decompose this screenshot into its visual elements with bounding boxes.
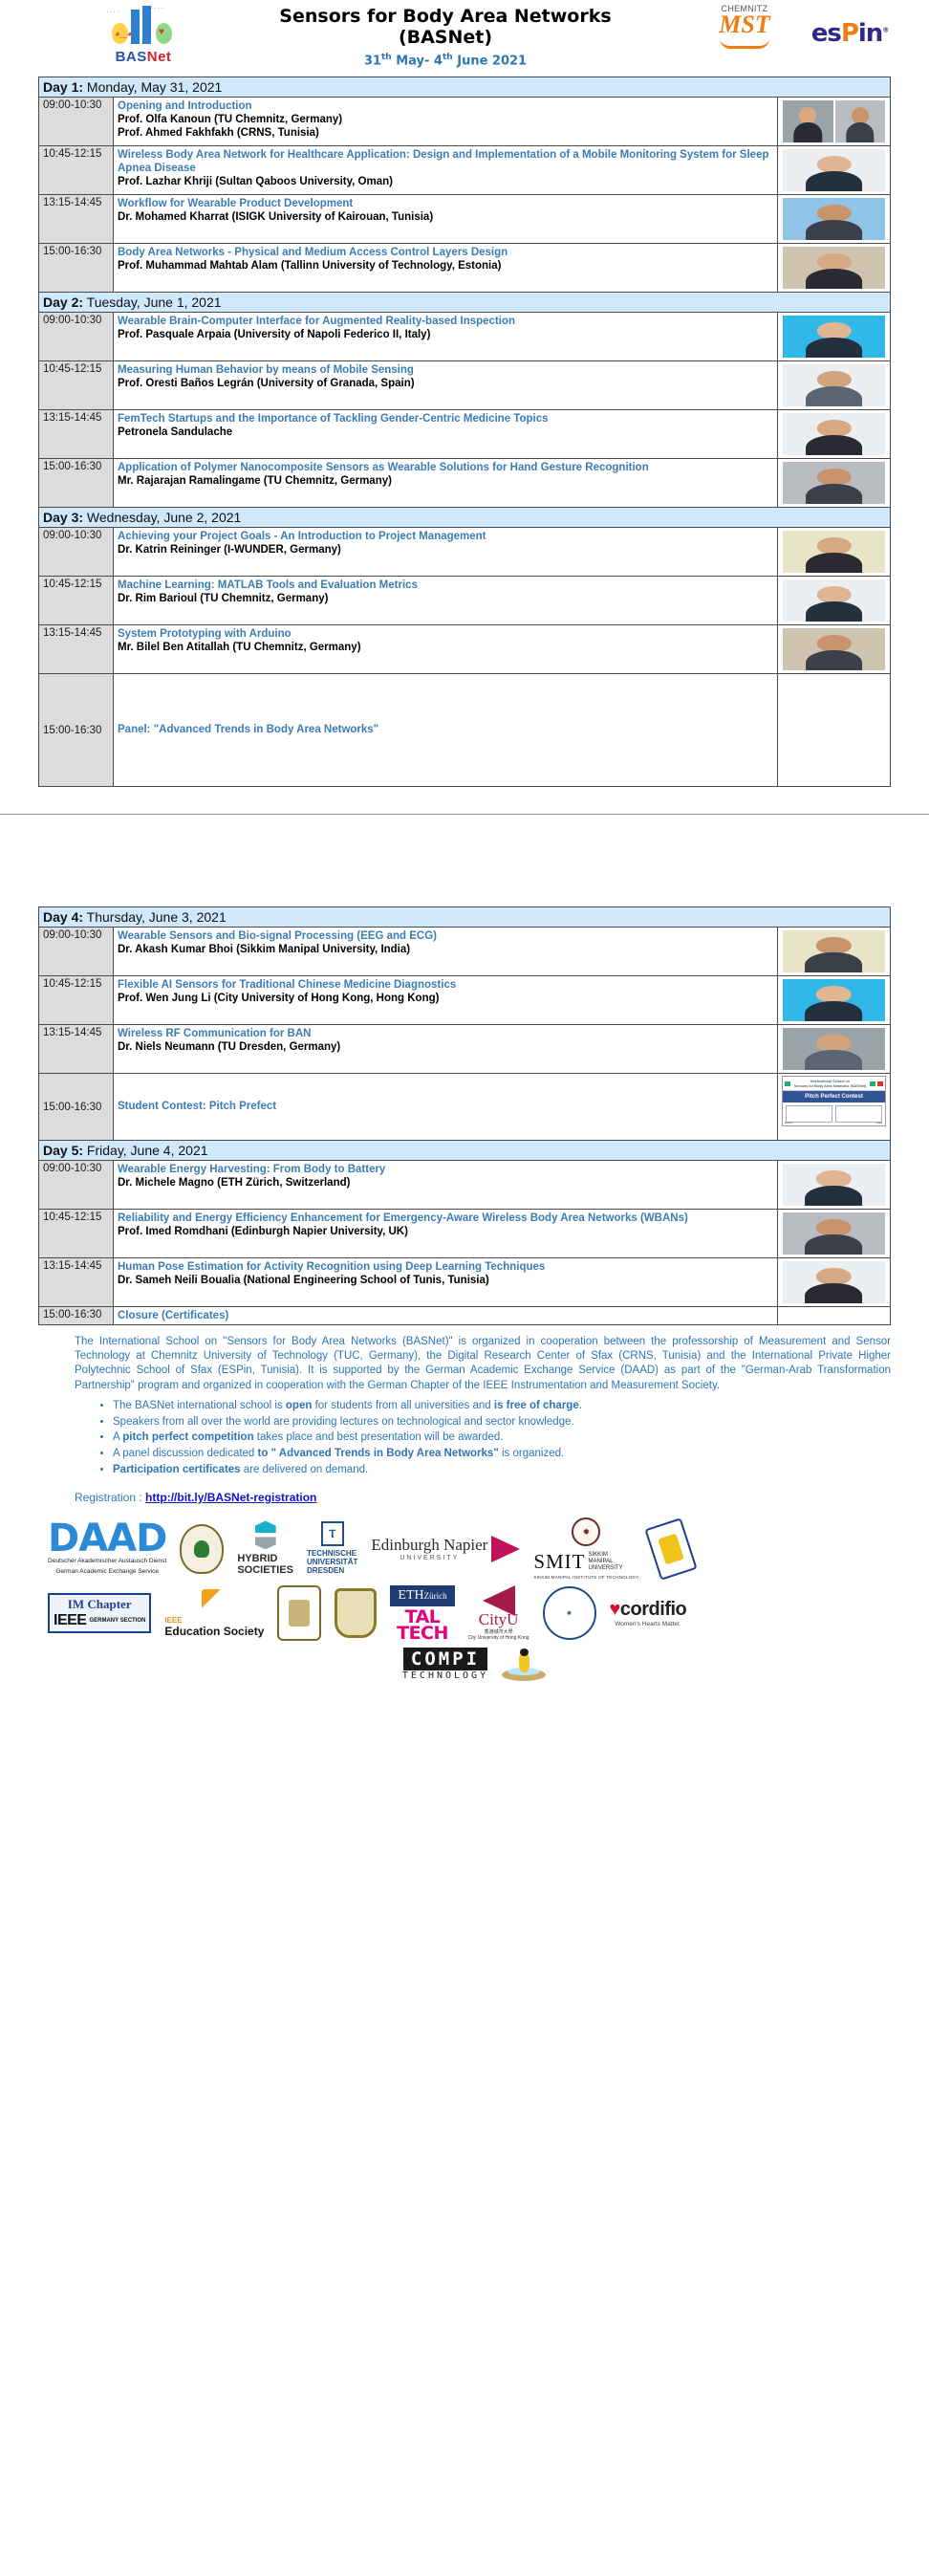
signal-dots-icon-2: ····	[150, 4, 164, 12]
dip-shield-icon	[645, 1517, 698, 1581]
day-date: Tuesday, June 1, 2021	[83, 295, 222, 310]
session-topic: Machine Learning: MATLAB Tools and Evalu…	[114, 577, 778, 625]
tree-icon	[194, 1540, 209, 1558]
session-photos: International School onSensors for Body …	[777, 1074, 890, 1141]
signal-dots-icon: ····	[106, 8, 120, 16]
session-topic: Opening and Introduction Prof. Olfa Kano…	[114, 98, 778, 146]
portrait-akash-kumar-bhoi	[782, 929, 886, 973]
session-speaker: Petronela Sandulache	[118, 426, 773, 439]
session-speaker: Prof. Wen Jung Li (City University of Ho…	[118, 992, 773, 1005]
session-photos	[777, 1161, 890, 1210]
session-title: Machine Learning: MATLAB Tools and Evalu…	[118, 579, 773, 592]
session-row: 15:00-16:30 Closure (Certificates)	[39, 1307, 891, 1325]
session-time: 15:00-16:30	[39, 459, 114, 508]
basnet-icon: ···· ···· ◕‿◕ ♥	[102, 4, 184, 48]
body-bar-2-icon	[142, 6, 151, 44]
session-title: Wearable Brain-Computer Interface for Au…	[118, 315, 773, 328]
session-time: 10:45-12:15	[39, 976, 114, 1025]
flyer-line2: Sensors for Body Area Networks (BASNet)	[794, 1083, 867, 1088]
smit-wordmark: SMIT	[533, 1550, 585, 1574]
eth-text: ETH	[398, 1588, 423, 1603]
hong-kong-polytechnic-logo: ✺	[543, 1586, 596, 1640]
day-header-cell: Day 3: Wednesday, June 2, 2021	[39, 508, 891, 528]
portrait-niels-neumann	[782, 1027, 886, 1071]
portrait-wen-jung-li	[782, 978, 886, 1022]
session-row: 13:15-14:45 Human Pose Estimation for Ac…	[39, 1258, 891, 1307]
session-photos	[778, 459, 891, 508]
portrait-katrin-reininger	[782, 530, 886, 574]
session-speaker: Dr. Michele Magno (ETH Zürich, Switzerla…	[118, 1176, 773, 1190]
page-title-line2: (BASNet)	[229, 27, 661, 48]
session-topic: Achieving your Project Goals - An Introd…	[114, 528, 778, 577]
session-photos	[778, 410, 891, 459]
list-item: A pitch perfect competition takes place …	[113, 1430, 891, 1446]
portrait-lazhar-khriji	[782, 148, 886, 192]
basnet-logo: ···· ···· ◕‿◕ ♥ BASNet	[57, 4, 229, 65]
session-topic: Wearable Energy Harvesting: From Body to…	[114, 1161, 778, 1210]
session-row-panel: 15:00-16:30 Panel: "Advanced Trends in B…	[39, 674, 891, 787]
session-photos	[777, 928, 890, 976]
session-row: 10:45-12:15 Reliability and Energy Effic…	[39, 1210, 891, 1258]
session-speaker: Dr. Katrin Reininger (I-WUNDER, Germany)	[118, 543, 773, 557]
bird-nest-logo	[502, 1647, 546, 1681]
daad-logo: DAAD Deutscher Akademischer Austausch Di…	[48, 1521, 166, 1575]
session-speaker: Prof. Muhammad Mahtab Alam (Tallinn Univ…	[118, 259, 773, 273]
body-bar-1-icon	[131, 10, 140, 44]
session-photos	[777, 1307, 890, 1325]
flyer-footer-date: Date:	[876, 1121, 883, 1124]
description-block: The International School on "Sensors for…	[0, 1325, 929, 1478]
session-title: Wearable Sensors and Bio-signal Processi…	[118, 929, 773, 943]
session-time: 15:00-16:30	[39, 1074, 114, 1141]
session-topic: Measuring Human Behavior by means of Mob…	[114, 361, 778, 410]
session-row: 10:45-12:15 Machine Learning: MATLAB Too…	[39, 577, 891, 625]
cityu-full-name: City University of Hong Kong	[468, 1635, 529, 1641]
portrait-pasquale-arpaia	[782, 315, 886, 359]
portrait-muhammad-mahtab-alam	[782, 246, 886, 290]
portrait-mohamed-kharrat	[782, 197, 886, 241]
session-title: Measuring Human Behavior by means of Mob…	[118, 363, 773, 377]
session-photos	[778, 625, 891, 674]
list-item: A panel discussion dedicated to " Advanc…	[113, 1447, 891, 1462]
portrait-rajarajan-ramalingame	[782, 461, 886, 505]
flyer-logo-icon-b	[877, 1081, 883, 1086]
day-header-row: Day 2: Tuesday, June 1, 2021	[39, 293, 891, 313]
flyer-footer-daad: DAAD	[785, 1121, 792, 1124]
compi-subtitle: TECHNOLOGY	[402, 1670, 488, 1681]
day-label: Day 5:	[43, 1143, 83, 1158]
eth-zurich-logo: ETHZürich TALTECH	[390, 1585, 454, 1641]
portrait-imed-romdhani	[782, 1212, 886, 1255]
session-row: 13:15-14:45 System Prototyping with Ardu…	[39, 625, 891, 674]
list-item: The BASNet international school is open …	[113, 1399, 891, 1414]
event-dates: 31th May- 4th June 2021	[229, 53, 661, 68]
session-time: 10:45-12:15	[39, 1210, 114, 1258]
session-row: 13:15-14:45 Wireless RF Communication fo…	[39, 1025, 891, 1074]
schedule-table-2: Day 4: Thursday, June 3, 2021 09:00-10:3…	[38, 906, 891, 1325]
cityu-logo: CityU 香港城市大學 City University of Hong Kon…	[468, 1585, 529, 1641]
session-photos	[778, 195, 891, 244]
day-header-cell: Day 5: Friday, June 4, 2021	[39, 1141, 891, 1161]
session-title: FemTech Startups and the Importance of T…	[118, 412, 773, 426]
ieee-ed-label: IEEE	[164, 1616, 264, 1625]
session-row: 09:00-10:30 Opening and Introduction Pro…	[39, 98, 891, 146]
session-topic: Closure (Certificates)	[114, 1307, 778, 1325]
day-label: Day 4:	[43, 909, 83, 925]
session-row: 10:45-12:15 Flexible AI Sensors for Trad…	[39, 976, 891, 1025]
session-speaker: Mr. Rajarajan Ramalingame (TU Chemnitz, …	[118, 474, 773, 488]
session-speaker: Prof. Oresti Baños Legrán (University of…	[118, 377, 773, 390]
session-title: Wireless RF Communication for BAN	[118, 1027, 773, 1040]
session-title: Body Area Networks - Physical and Medium…	[118, 246, 773, 259]
session-time: 09:00-10:30	[39, 1161, 114, 1210]
session-topic: Wireless Body Area Network for Healthcar…	[114, 146, 778, 195]
day-date: Thursday, June 3, 2021	[83, 909, 227, 925]
session-photos	[778, 313, 891, 361]
session-row: 13:15-14:45 FemTech Startups and the Imp…	[39, 410, 891, 459]
flyer-pitch-perfect-contest: International School onSensors for Body …	[782, 1076, 886, 1126]
napier-wordmark: Edinburgh Napier	[371, 1536, 487, 1555]
session-title: Wearable Energy Harvesting: From Body to…	[118, 1163, 773, 1176]
session-speaker: Dr. Rim Barioul (TU Chemnitz, Germany)	[118, 592, 773, 605]
session-speaker: Dr. Mohamed Kharrat (ISIGK University of…	[118, 210, 773, 224]
session-topic: Workflow for Wearable Product Developmen…	[114, 195, 778, 244]
session-photos	[778, 98, 891, 146]
heart-icon: ♥	[610, 1599, 620, 1620]
portrait-oresti-banos-legran	[782, 363, 886, 407]
session-photos	[777, 1258, 890, 1307]
session-topic: Body Area Networks - Physical and Medium…	[114, 244, 778, 293]
portrait-olfa-kanoun	[782, 99, 834, 143]
session-speaker: Prof. Pasquale Arpaia (University of Nap…	[118, 328, 773, 341]
portrait-rim-barioul	[782, 579, 886, 622]
sponsor-logos-header: CHEMNITZ MST esPin®	[661, 4, 891, 49]
session-time: 15:00-16:30	[39, 244, 114, 293]
schedule-part-1: Day 1: Monday, May 31, 2021 09:00-10:30 …	[0, 76, 929, 787]
napier-subtitle: UNIVERSITY	[371, 1555, 487, 1561]
day-date: Friday, June 4, 2021	[83, 1143, 207, 1158]
session-topic: FemTech Startups and the Importance of T…	[114, 410, 778, 459]
portrait-ahmed-fakhfakh	[834, 99, 887, 143]
session-title: Achieving your Project Goals - An Introd…	[118, 530, 773, 543]
eth-box-icon: ETHZürich	[390, 1585, 454, 1606]
day-header-row: Day 4: Thursday, June 3, 2021	[39, 907, 891, 928]
session-row-contest: 15:00-16:30 Student Contest: Pitch Prefe…	[39, 1074, 891, 1141]
hybrid-societies-logo: HYBRIDSOCIETIES	[237, 1520, 293, 1576]
session-topic: Application of Polymer Nanocomposite Sen…	[114, 459, 778, 508]
session-row: 09:00-10:30 Wearable Brain-Computer Inte…	[39, 313, 891, 361]
bird-icon	[502, 1647, 546, 1681]
footer-logo-row-3: COMPI TECHNOLOGY	[48, 1647, 900, 1681]
session-time: 09:00-10:30	[39, 528, 114, 577]
session-time: 09:00-10:30	[39, 313, 114, 361]
session-time: 13:15-14:45	[39, 410, 114, 459]
session-time: 09:00-10:30	[39, 928, 114, 976]
crns-seal-logo	[180, 1524, 224, 1574]
session-row: 09:00-10:30 Wearable Energy Harvesting: …	[39, 1161, 891, 1210]
smit-s2: MANIPAL	[589, 1559, 614, 1564]
session-speaker: Prof. Imed Romdhani (Edinburgh Napier Un…	[118, 1225, 773, 1238]
session-row: 13:15-14:45 Workflow for Wearable Produc…	[39, 195, 891, 244]
polyu-seal-icon: ✺	[543, 1586, 596, 1640]
session-row: 10:45-12:15 Wireless Body Area Network f…	[39, 146, 891, 195]
day-header-row: Day 5: Friday, June 4, 2021	[39, 1141, 891, 1161]
session-time: 09:00-10:30	[39, 98, 114, 146]
eth-zurich-text: Zürich	[424, 1591, 447, 1601]
session-speaker: Dr. Akash Kumar Bhoi (Sikkim Manipal Uni…	[118, 943, 773, 956]
compi-wordmark: COMPI	[403, 1648, 487, 1670]
portrait-petronela-sandulache	[782, 412, 886, 456]
session-title: Opening and Introduction	[118, 99, 773, 113]
mst-wordmark: MST	[705, 13, 784, 37]
day-date: Monday, May 31, 2021	[83, 79, 222, 95]
mst-arc-icon	[720, 38, 769, 49]
session-topic: Panel: "Advanced Trends in Body Area Net…	[114, 674, 778, 787]
sfax-crest-icon	[335, 1588, 377, 1638]
session-photos	[777, 976, 890, 1025]
smit-s3: UNIVERSITY	[589, 1565, 623, 1571]
day-header-cell: Day 2: Tuesday, June 1, 2021	[39, 293, 891, 313]
education-society-label: Education Society	[164, 1625, 264, 1638]
day-label: Day 1:	[43, 79, 83, 95]
heart-icon: ♥	[159, 27, 164, 37]
session-title: Panel: "Advanced Trends in Body Area Net…	[118, 723, 773, 736]
portrait-sameh-neili-boualia	[782, 1260, 886, 1304]
day-label: Day 3:	[43, 510, 83, 525]
flyer-band-title: Pitch Perfect Contest	[783, 1091, 885, 1102]
session-topic: Student Contest: Pitch Prefect	[114, 1074, 778, 1141]
cordifio-tagline: Women's Hearts Matter.	[615, 1621, 681, 1627]
session-topic: Wearable Sensors and Bio-signal Processi…	[114, 928, 778, 976]
session-row: 15:00-16:30 Body Area Networks - Physica…	[39, 244, 891, 293]
smit-s1: SIKKIM	[589, 1552, 608, 1558]
hybrid-text-2: SOCIETIES	[237, 1565, 293, 1577]
im-chapter-text: IM Chapter	[68, 1597, 132, 1612]
im-chapter-ieee-logo: IM Chapter IEEE GERMANY SECTION	[48, 1593, 151, 1633]
taltech-line2: TECH	[397, 1626, 448, 1642]
session-topic: Human Pose Estimation for Activity Recog…	[114, 1258, 778, 1307]
granada-crest-icon	[277, 1585, 321, 1641]
poster-header: ···· ···· ◕‿◕ ♥ BASNet Sensors for Body …	[0, 0, 929, 76]
session-title: Closure (Certificates)	[118, 1309, 773, 1322]
daad-wordmark: DAAD	[48, 1521, 166, 1556]
footer-logos: DAAD Deutscher Akademischer Austausch Di…	[0, 1504, 929, 1696]
session-speaker: Mr. Bilel Ben Atitallah (TU Chemnitz, Ge…	[118, 641, 773, 654]
list-item: Participation certificates are delivered…	[113, 1463, 891, 1478]
session-title: Workflow for Wearable Product Developmen…	[118, 197, 773, 210]
poster-page: ···· ···· ◕‿◕ ♥ BASNet Sensors for Body …	[0, 0, 929, 2576]
highlights-list: The BASNet international school is open …	[75, 1399, 891, 1478]
hybrid-mark-icon	[253, 1520, 278, 1549]
portrait-michele-magno	[782, 1163, 886, 1207]
cordifio-wordmark: ♥cordifio	[610, 1599, 687, 1621]
session-speaker: Dr. Niels Neumann (TU Dresden, Germany)	[118, 1040, 773, 1054]
dip-logo	[652, 1522, 690, 1576]
edinburgh-napier-logo: Edinburgh Napier UNIVERSITY	[371, 1536, 520, 1562]
session-photos	[777, 1025, 890, 1074]
tud-mark-icon: Ⲧ	[321, 1521, 344, 1546]
smit-tagline: SIKKIM MANIPAL INSTITUTE OF TECHNOLOGY	[533, 1575, 638, 1580]
espin-logo: esPin®	[809, 4, 891, 48]
flyer-basnet-icon	[785, 1081, 790, 1086]
session-time: 13:15-14:45	[39, 625, 114, 674]
session-topic: Reliability and Energy Efficiency Enhanc…	[114, 1210, 778, 1258]
napier-triangle-icon	[491, 1536, 520, 1562]
session-photos	[778, 674, 891, 787]
poster-title-block: Sensors for Body Area Networks (BASNet) …	[229, 4, 661, 68]
compi-technology-logo: COMPI TECHNOLOGY	[402, 1648, 488, 1681]
daad-subtitle-en: German Academic Exchange Service	[55, 1568, 159, 1576]
smit-seal-icon: ✹	[572, 1517, 600, 1546]
session-title: System Prototyping with Arduino	[118, 627, 773, 641]
session-speaker: Prof. Olfa Kanoun (TU Chemnitz, Germany)	[118, 113, 773, 126]
face-icon: ◕‿◕	[115, 29, 132, 39]
session-speaker-2: Prof. Ahmed Fakhfakh (CRNS, Tunisia)	[118, 126, 773, 140]
session-time: 13:15-14:45	[39, 195, 114, 244]
day-header-cell: Day 1: Monday, May 31, 2021	[39, 77, 891, 98]
registration-block: Registration : http://bit.ly/BASNet-regi…	[0, 1479, 929, 1504]
university-sfax-logo	[335, 1588, 377, 1638]
flyer-logo-icon-a	[870, 1081, 875, 1086]
day-date: Wednesday, June 2, 2021	[83, 510, 241, 525]
footer-logo-row-2: IM Chapter IEEE GERMANY SECTION IEEEEduc…	[48, 1585, 900, 1641]
session-topic: System Prototyping with Arduino Mr. Bile…	[114, 625, 778, 674]
description-paragraph: The International School on "Sensors for…	[75, 1335, 891, 1393]
footer-logo-row-1: DAAD Deutscher Akademischer Austausch Di…	[48, 1517, 900, 1580]
session-topic: Flexible AI Sensors for Traditional Chin…	[114, 976, 778, 1025]
education-book-icon	[202, 1589, 227, 1612]
schedule-part-2: Day 4: Thursday, June 3, 2021 09:00-10:3…	[0, 906, 929, 1325]
day-header-row: Day 1: Monday, May 31, 2021	[39, 77, 891, 98]
tu-dresden-logo: Ⲧ TECHNISCHEUNIVERSITÄTDRESDEN	[307, 1521, 357, 1576]
day-label: Day 2:	[43, 295, 83, 310]
session-row: 09:00-10:30 Wearable Sensors and Bio-sig…	[39, 928, 891, 976]
session-time: 15:00-16:30	[39, 674, 114, 787]
universidad-granada-logo	[277, 1585, 321, 1641]
schedule-table-1: Day 1: Monday, May 31, 2021 09:00-10:30 …	[38, 76, 891, 787]
session-photos	[778, 528, 891, 577]
session-title: Human Pose Estimation for Activity Recog…	[118, 1260, 773, 1274]
day-header-row: Day 3: Wednesday, June 2, 2021	[39, 508, 891, 528]
registration-label: Registration :	[75, 1491, 145, 1504]
session-title: Flexible AI Sensors for Traditional Chin…	[118, 978, 773, 992]
session-photos	[777, 1210, 890, 1258]
day-header-cell: Day 4: Thursday, June 3, 2021	[39, 907, 891, 928]
espin-wordmark: esPin®	[809, 19, 891, 48]
session-title: Reliability and Energy Efficiency Enhanc…	[118, 1212, 773, 1225]
page-title-line1: Sensors for Body Area Networks	[229, 6, 661, 27]
list-item: Speakers from all over the world are pro…	[113, 1415, 891, 1430]
session-photos	[778, 361, 891, 410]
session-row: 09:00-10:30 Achieving your Project Goals…	[39, 528, 891, 577]
session-row: 10:45-12:15 Measuring Human Behavior by …	[39, 361, 891, 410]
portrait-bilel-ben-atitallah	[782, 627, 886, 671]
crns-seal-icon	[180, 1524, 224, 1574]
page-2-top-spacer	[0, 815, 929, 906]
session-topic: Wearable Brain-Computer Interface for Au…	[114, 313, 778, 361]
session-time: 10:45-12:15	[39, 361, 114, 410]
session-time: 15:00-16:30	[39, 1307, 114, 1325]
cityu-wordmark: CityU	[479, 1610, 519, 1629]
ieee-germany-section: GERMANY SECTION	[89, 1618, 145, 1624]
session-photos	[778, 244, 891, 293]
session-time: 10:45-12:15	[39, 146, 114, 195]
smit-logo: ✹ SMIT SIKKIMMANIPALUNIVERSITY SIKKIM MA…	[533, 1517, 638, 1580]
tuc-mst-logo: CHEMNITZ MST	[705, 4, 784, 49]
ieee-education-society-logo: IEEEEducation Society	[164, 1589, 264, 1638]
session-speaker: Dr. Sameh Neili Boualia (National Engine…	[118, 1274, 773, 1287]
session-speaker: Prof. Lazhar Khriji (Sultan Qaboos Unive…	[118, 175, 773, 188]
session-time: 13:15-14:45	[39, 1258, 114, 1307]
session-row: 15:00-16:30 Application of Polymer Nanoc…	[39, 459, 891, 508]
daad-subtitle-de: Deutscher Akademischer Austausch Dienst	[48, 1558, 166, 1565]
session-time: 13:15-14:45	[39, 1025, 114, 1074]
session-time: 10:45-12:15	[39, 577, 114, 625]
tud-line3: DRESDEN	[307, 1567, 357, 1576]
session-topic: Wireless RF Communication for BAN Dr. Ni…	[114, 1025, 778, 1074]
session-photos	[778, 577, 891, 625]
session-title: Student Contest: Pitch Prefect	[118, 1100, 773, 1113]
session-photos	[778, 146, 891, 195]
session-title: Application of Polymer Nanocomposite Sen…	[118, 461, 773, 474]
session-title: Wireless Body Area Network for Healthcar…	[118, 148, 773, 175]
ieee-wordmark: IEEE	[54, 1612, 86, 1629]
basnet-wordmark: BASNet	[116, 49, 172, 65]
registration-link[interactable]: http://bit.ly/BASNet-registration	[145, 1491, 316, 1504]
cordifio-logo: ♥cordifio Women's Hearts Matter.	[610, 1599, 687, 1627]
